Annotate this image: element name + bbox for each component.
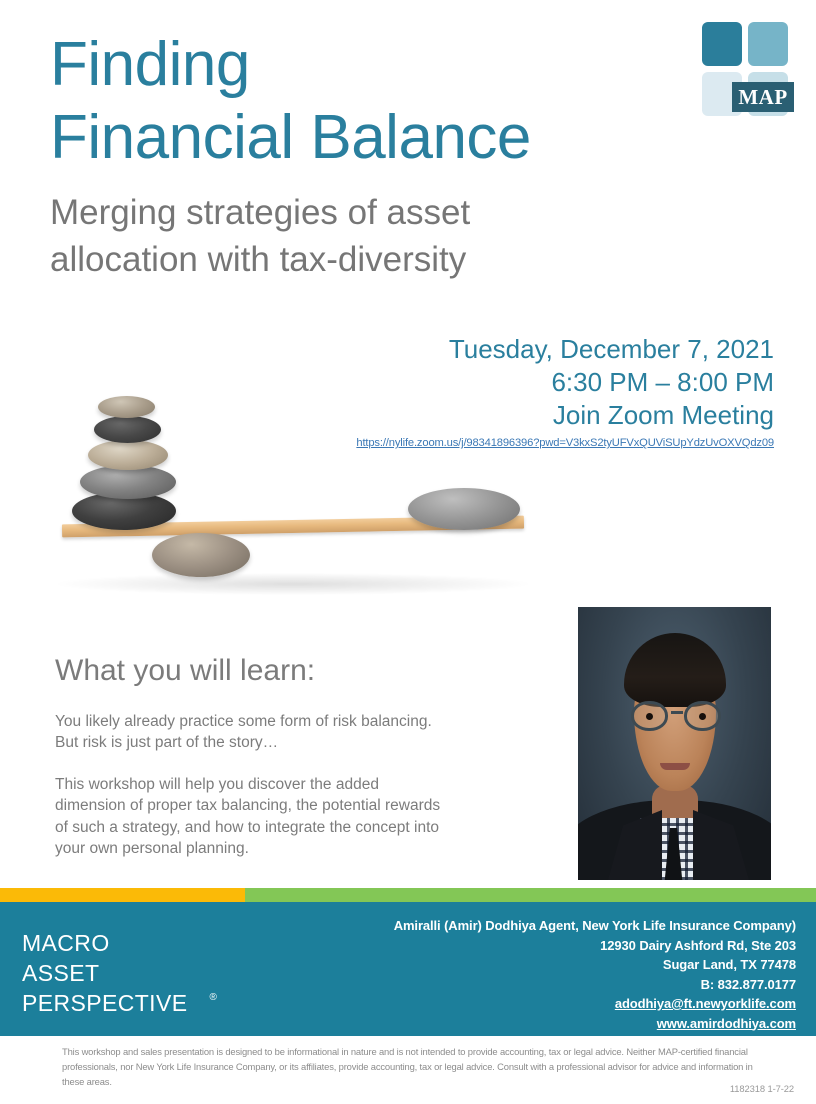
contact-phone: B: 832.877.0177 — [394, 975, 796, 995]
logo-square-top-right — [748, 22, 788, 66]
contact-website-link[interactable]: www.amirdodhiya.com — [394, 1014, 796, 1034]
stack-stone-3 — [88, 440, 168, 470]
event-date: Tuesday, December 7, 2021 — [214, 333, 774, 366]
glasses-bridge — [671, 711, 683, 714]
brand-line-macro: MACRO — [22, 929, 217, 959]
legal-disclaimer: This workshop and sales presentation is … — [62, 1045, 762, 1090]
event-time: 6:30 PM – 8:00 PM — [214, 366, 774, 399]
contact-address-city: Sugar Land, TX 77478 — [394, 955, 796, 975]
agent-portrait — [578, 607, 771, 880]
document-number: 1182318 1-7-22 — [730, 1083, 794, 1094]
logo-square-top-left — [702, 22, 742, 66]
fulcrum-stone — [152, 533, 250, 577]
event-platform: Join Zoom Meeting — [214, 399, 774, 432]
contact-agent-name: Amiralli (Amir) Dodhiya Agent, New York … — [394, 916, 796, 936]
brand-line-perspective-wrap: PERSPECTIVE ® — [22, 989, 217, 1019]
glasses-icon — [628, 701, 724, 731]
title-block: Finding Financial Balance Merging strate… — [50, 28, 670, 283]
learn-heading: What you will learn: — [55, 653, 525, 689]
portrait-eye-left — [646, 713, 653, 720]
stack-stone-5 — [98, 396, 155, 418]
contact-block: Amiralli (Amir) Dodhiya Agent, New York … — [394, 916, 796, 1033]
map-logo: MAP — [702, 22, 794, 114]
brand-line-perspective: PERSPECTIVE — [22, 989, 187, 1019]
page-subtitle-line-2: allocation with tax-diversity — [50, 237, 670, 283]
footer-banner: MACRO ASSET PERSPECTIVE ® Amiralli (Amir… — [0, 902, 816, 1036]
page-subtitle-line-1: Merging strategies of asset — [50, 190, 670, 236]
portrait-eye-right — [699, 713, 706, 720]
counterweight-stone — [408, 488, 520, 530]
illustration-ground-shadow — [58, 573, 528, 595]
brand-block: MACRO ASSET PERSPECTIVE ® — [22, 929, 217, 1019]
registered-trademark-icon: ® — [209, 991, 217, 1004]
page-title-line-2: Financial Balance — [50, 101, 670, 174]
zoom-meeting-link[interactable]: https://nylife.zoom.us/j/98341896396?pwd… — [356, 437, 774, 449]
contact-email-link[interactable]: adodhiya@ft.newyorklife.com — [394, 994, 796, 1014]
page-title-line-1: Finding — [50, 28, 670, 101]
contact-address-street: 12930 Dairy Ashford Rd, Ste 203 — [394, 936, 796, 956]
stack-stone-2 — [80, 465, 176, 499]
logo-map-badge: MAP — [732, 82, 794, 112]
learn-paragraph-2: This workshop will help you discover the… — [55, 774, 525, 860]
accent-bar-orange — [0, 888, 245, 902]
flyer-page: MAP Finding Financial Balance Merging st… — [0, 0, 816, 1104]
what-you-will-learn-section: What you will learn: You likely already … — [55, 653, 525, 859]
event-details: Tuesday, December 7, 2021 6:30 PM – 8:00… — [214, 333, 774, 451]
subtitle-block: Merging strategies of asset allocation w… — [50, 190, 670, 282]
stack-stone-4 — [94, 416, 161, 443]
brand-line-asset: ASSET — [22, 959, 217, 989]
learn-paragraph-1: You likely already practice some form of… — [55, 711, 525, 754]
portrait-mouth — [660, 763, 690, 770]
accent-bar-green — [245, 888, 816, 902]
